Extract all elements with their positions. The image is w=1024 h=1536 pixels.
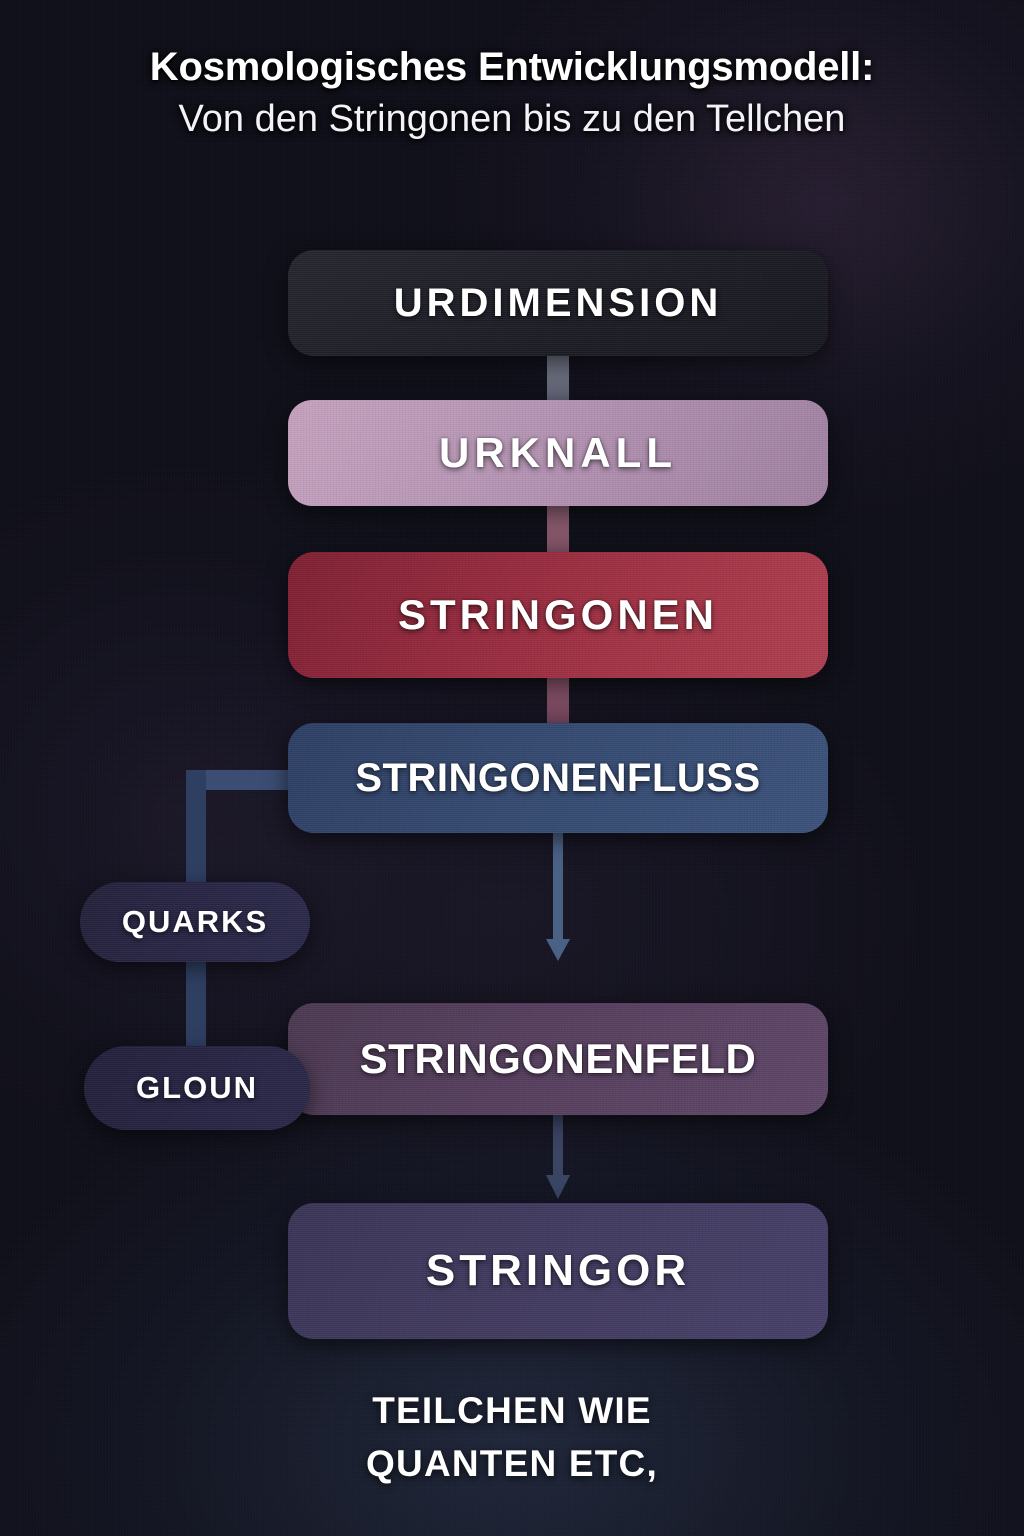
node-gloun[interactable]: GLOUN (84, 1046, 310, 1130)
page-title: Kosmologisches Entwicklungsmodell: (8, 44, 1016, 91)
node-urdimension-label: URDIMENSION (394, 281, 722, 326)
arrow-down-icon (546, 833, 570, 973)
node-urknall-label: URKNALL (439, 429, 677, 477)
footer-caption-line-1: TEILCHEN WIE (0, 1385, 1024, 1438)
node-stringonenfluss[interactable]: STRINGONENFLUSS (288, 723, 828, 833)
footer-caption: TEILCHEN WIE QUANTEN ETC, (0, 1385, 1024, 1490)
arrow-stringonenfluss-to-stringonenfeld (546, 833, 570, 973)
footer-caption-line-2: QUANTEN ETC, (0, 1438, 1024, 1491)
node-urknall[interactable]: URKNALL (288, 400, 828, 506)
node-stringonenfeld-label: STRINGONENFELD (360, 1035, 757, 1083)
node-stringonenfluss-label: STRINGONENFLUSS (355, 756, 760, 801)
page-subtitle: Von den Stringonen bis zu den Tellchen (8, 97, 1016, 143)
connector-urknall-to-stringonen (547, 498, 569, 560)
page-header: Kosmologisches Entwicklungsmodell: Von d… (0, 44, 1024, 143)
arrow-stringonenfeld-to-stringor (546, 1115, 570, 1205)
node-quarks-label: QUARKS (122, 904, 268, 940)
node-gloun-label: GLOUN (136, 1070, 258, 1106)
node-stringonen[interactable]: STRINGONEN (288, 552, 828, 678)
node-stringonenfeld[interactable]: STRINGONENFELD (288, 1003, 828, 1115)
node-stringor[interactable]: STRINGOR (288, 1203, 828, 1339)
arrow-down-icon (546, 1115, 570, 1205)
node-stringor-label: STRINGOR (426, 1246, 690, 1296)
node-stringonen-label: STRINGONEN (398, 591, 718, 639)
node-quarks[interactable]: QUARKS (80, 882, 310, 962)
node-urdimension[interactable]: URDIMENSION (288, 250, 828, 356)
diagram-canvas: Kosmologisches Entwicklungsmodell: Von d… (0, 0, 1024, 1536)
